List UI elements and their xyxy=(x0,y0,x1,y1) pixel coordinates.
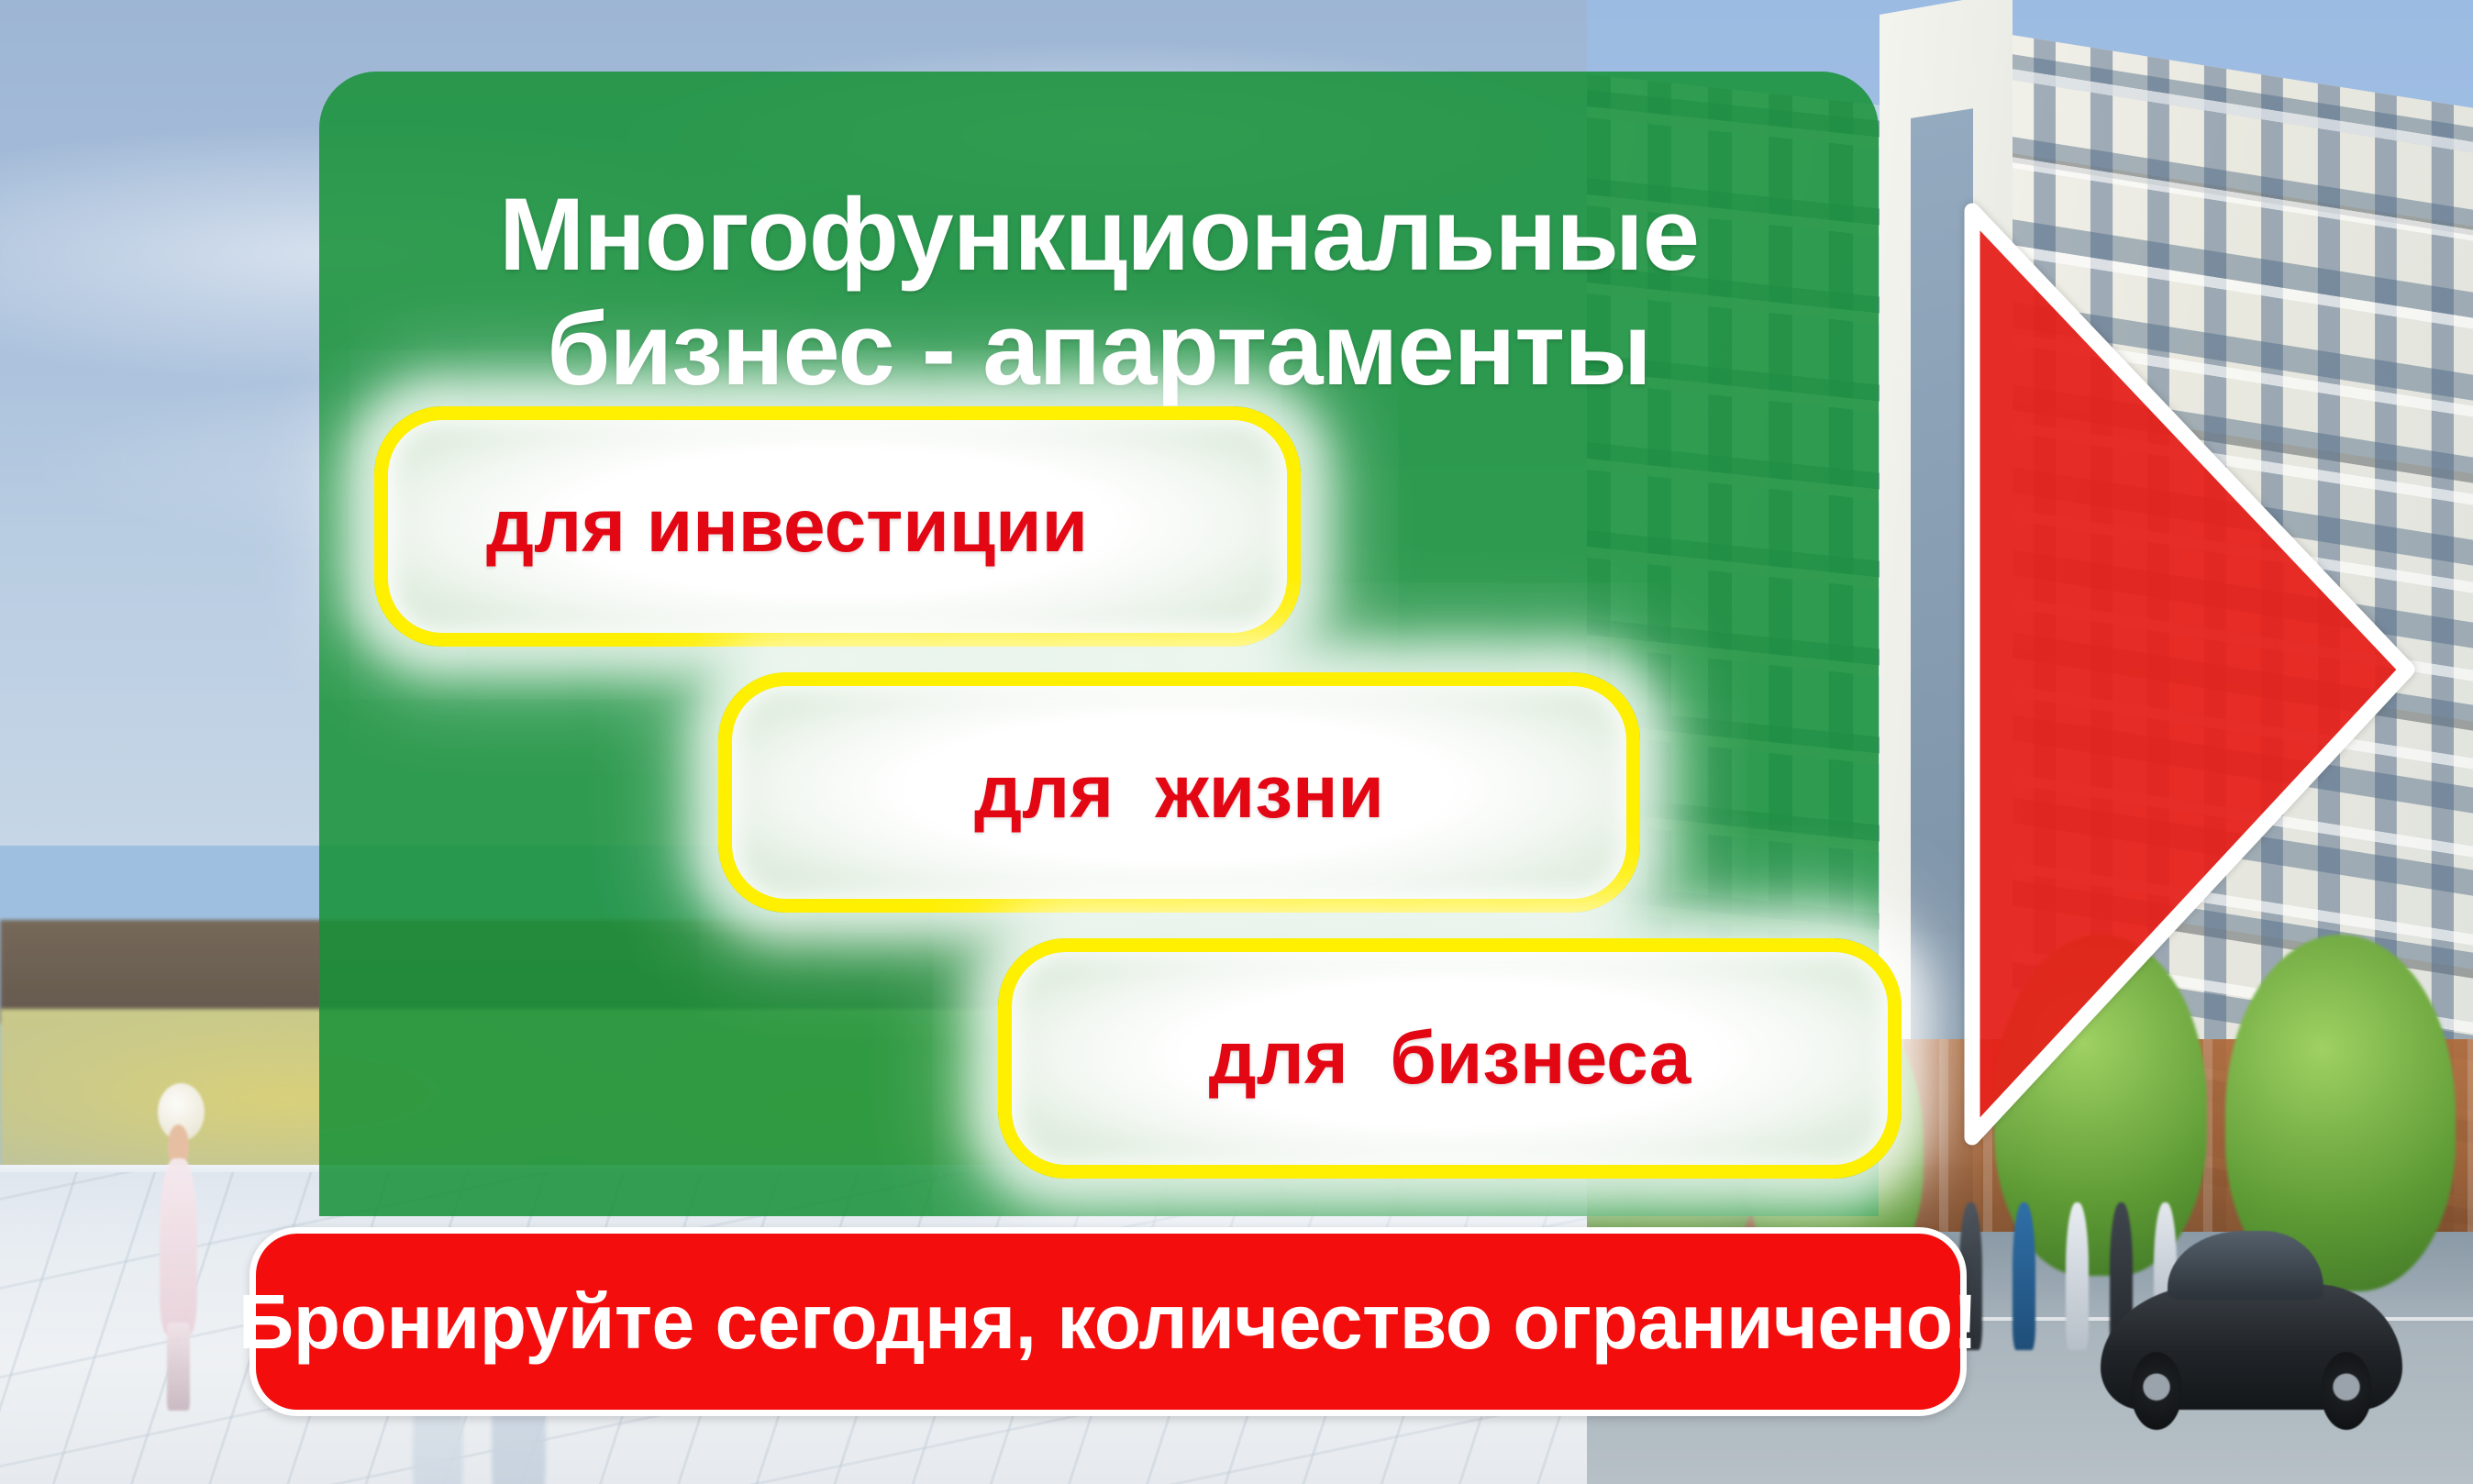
headline-line-1: Многофункциональные xyxy=(499,177,1699,292)
child-figure xyxy=(146,1083,209,1424)
pill-label-living: для жизни xyxy=(974,749,1384,836)
pill-for-investment[interactable]: для инвестиции xyxy=(374,406,1301,647)
car-wheel xyxy=(2321,1352,2372,1430)
headline-line-2: бизнес - апартаменты xyxy=(319,292,1879,406)
pedestrian-figure xyxy=(2013,1202,2035,1351)
pill-label-investment: для инвестиции xyxy=(486,483,1189,570)
play-triangle-icon[interactable] xyxy=(1930,174,2444,1174)
cta-booking-banner[interactable]: Бронируйте сегодня, количество ограничен… xyxy=(250,1227,1967,1416)
pill-for-business[interactable]: для бизнеса xyxy=(998,938,1902,1179)
pill-for-living[interactable]: для жизни xyxy=(718,672,1640,913)
pill-label-business: для бизнеса xyxy=(1209,1015,1691,1102)
page-title: Многофункциональные бизнес - апартаменты xyxy=(319,177,1879,407)
parked-car xyxy=(2101,1284,2401,1411)
car-wheel xyxy=(2131,1352,2182,1430)
pedestrian-figure xyxy=(2066,1202,2089,1351)
cta-text: Бронируйте сегодня, количество ограничен… xyxy=(238,1278,1978,1367)
promo-banner: Многофункциональные бизнес - апартаменты… xyxy=(0,0,2473,1484)
figure-legs xyxy=(167,1323,190,1412)
figure-body xyxy=(160,1158,196,1336)
